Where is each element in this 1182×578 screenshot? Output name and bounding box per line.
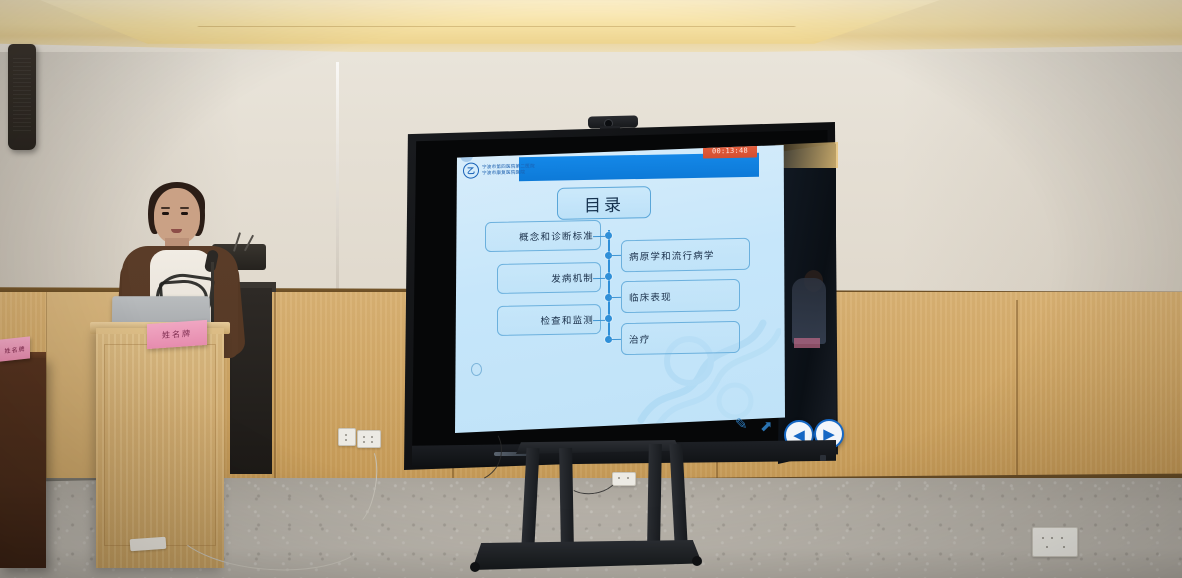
stand-leg (559, 448, 574, 546)
caster-wheel (470, 562, 480, 572)
logo-line-1: 宁波市第四医院第二医院 (482, 164, 535, 170)
toc-item-left-2-label: 发病机制 (551, 270, 594, 285)
name-card-cabinet-text: 姓名牌 (0, 343, 30, 355)
reflection-name-card (794, 338, 820, 348)
toc-item-left-1[interactable]: 概念和诊断标准 (485, 220, 601, 252)
head (154, 188, 200, 244)
toc-item-left-2[interactable]: 发病机制 (497, 262, 601, 294)
wall-outlet[interactable] (338, 428, 356, 446)
logo-mark-icon: 乙 (463, 162, 479, 178)
toc-connector (593, 278, 605, 279)
display-screen[interactable]: 乙 宁波市第四医院第二医院 宁波市康复医院医院 00:13:48 目录 概念和诊… (455, 145, 785, 433)
eye-left (162, 212, 169, 215)
toc-item-right-2-label: 临床表现 (629, 289, 672, 304)
slide-footer-mark (471, 363, 482, 376)
toc-item-left-1-label: 概念和诊断标准 (519, 228, 594, 243)
name-card: 姓名牌 (147, 320, 207, 349)
toc-connector (593, 320, 605, 321)
expand-icon[interactable]: ⬈ (760, 417, 773, 435)
prev-arrow-icon: ◀ (793, 428, 805, 443)
timeline-dot (605, 315, 612, 322)
slide-toc: 乙 宁波市第四医院第二医院 宁波市康复医院医院 00:13:48 目录 概念和诊… (455, 145, 785, 433)
toc-item-left-3-label: 检查和监测 (540, 312, 594, 327)
toc-connector (609, 255, 621, 256)
toc-item-left-3[interactable]: 检查和监测 (497, 304, 601, 336)
logo-line-2: 宁波市康复医院医院 (482, 170, 535, 176)
slide-title-box: 目录 (557, 186, 651, 220)
eyebrow-left (161, 207, 170, 209)
timeline-dot (605, 273, 612, 280)
name-card-text: 姓名牌 (162, 328, 192, 341)
display-reflection-area (778, 142, 836, 464)
wainscot-seam (274, 292, 276, 492)
ceiling-trim-line (150, 4, 850, 27)
toc-connector (593, 236, 605, 237)
wall-shadow-right (900, 52, 1182, 302)
hospital-logo: 乙 宁波市第四医院第二医院 宁波市康复医院医院 (463, 158, 539, 181)
toc-connector (609, 297, 621, 298)
toc-item-right-1[interactable]: 病原学和流行病学 (621, 238, 750, 272)
display-ir-sensor (820, 455, 826, 461)
power-strip (130, 537, 167, 551)
eye-right (181, 212, 188, 215)
timeline-dot (605, 232, 612, 239)
wall-speaker (8, 44, 36, 150)
eyebrow-right (180, 207, 189, 209)
timeline-spine (608, 230, 610, 340)
toc-item-right-2[interactable]: 临床表现 (621, 279, 740, 313)
caster-wheel (692, 556, 702, 566)
toc-item-right-1-label: 病原学和流行病学 (629, 247, 715, 263)
toc-connector (609, 339, 621, 340)
toc-item-right-3[interactable]: 治疗 (621, 321, 740, 355)
slide-title: 目录 (584, 190, 624, 216)
pen-icon[interactable]: ✎ (735, 415, 748, 433)
logo-text: 宁波市第四医院第二医院 宁波市康复医院医院 (482, 164, 535, 176)
wall-corner (336, 62, 339, 306)
lecture-room-photo: 姓名牌 姓名牌 (0, 0, 1182, 578)
wall-outlet[interactable] (1032, 527, 1078, 557)
name-card-on-cabinet: 姓名牌 (0, 336, 30, 361)
toc-item-right-3-label: 治疗 (629, 332, 650, 346)
wainscot-seam (1016, 300, 1018, 486)
reflection-person (792, 278, 826, 344)
side-cabinet (0, 358, 46, 568)
stand-leg (647, 444, 662, 544)
next-arrow-icon: ▶ (823, 427, 835, 442)
